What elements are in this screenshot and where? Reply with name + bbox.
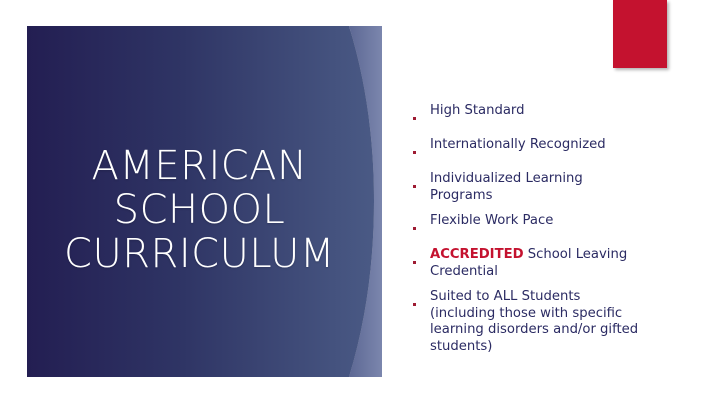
list-item: High Standard xyxy=(404,103,704,128)
list-item-label: Individualized Learning Programs xyxy=(430,171,704,204)
square-bullet-icon xyxy=(404,137,430,162)
square-bullet-icon xyxy=(404,213,430,238)
square-bullet-icon xyxy=(404,247,430,272)
list-item: Flexible Work Pace xyxy=(404,213,704,238)
list-item: Suited to ALL Students (including those … xyxy=(404,289,704,355)
title-panel: AMERICAN SCHOOL CURRICULUM xyxy=(27,26,382,377)
list-item-label: Suited to ALL Students (including those … xyxy=(430,289,704,355)
list-item-label: Internationally Recognized xyxy=(430,137,704,154)
accredited-emphasis: ACCREDITED xyxy=(430,247,524,262)
list-item-label: Flexible Work Pace xyxy=(430,213,704,230)
square-bullet-icon xyxy=(404,289,430,314)
list-item-accredited: ACCREDITED School Leaving Credential xyxy=(404,247,704,280)
square-bullet-icon xyxy=(404,103,430,128)
list-item-label: High Standard xyxy=(430,103,704,120)
page-title: AMERICAN SCHOOL CURRICULUM xyxy=(27,144,372,276)
list-item: Individualized Learning Programs xyxy=(404,171,704,204)
list-item-label: ACCREDITED School Leaving Credential xyxy=(430,247,704,280)
red-accent-rectangle xyxy=(613,0,667,68)
square-bullet-icon xyxy=(404,171,430,196)
slide-canvas: AMERICAN SCHOOL CURRICULUM High Standard… xyxy=(0,0,720,405)
bullet-list: High Standard Internationally Recognized… xyxy=(404,103,704,364)
list-item: Internationally Recognized xyxy=(404,137,704,162)
